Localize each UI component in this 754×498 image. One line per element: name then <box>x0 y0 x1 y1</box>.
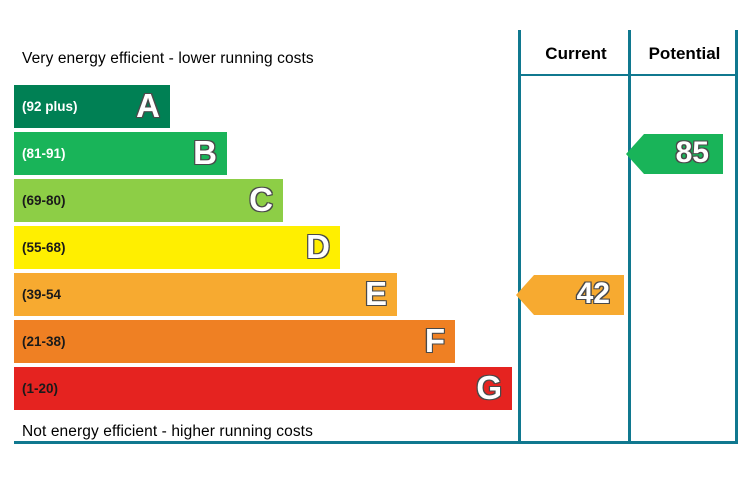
band-letter-a: A <box>136 89 166 122</box>
band-letter-d: D <box>306 230 336 263</box>
table-left-border <box>518 30 521 442</box>
band-row-b: (81-91) B <box>14 132 227 175</box>
band-range-c: (69-80) <box>22 194 66 208</box>
band-row-a: (92 plus) A <box>14 85 170 128</box>
band-range-d: (55-68) <box>22 241 66 255</box>
table-header-rule <box>518 74 738 76</box>
table-mid-divider <box>628 30 631 442</box>
potential-rating-value: 85 <box>676 138 709 168</box>
column-header-current: Current <box>524 40 628 68</box>
current-rating-arrow: 42 <box>516 275 624 315</box>
band-row-g: (1-20) G <box>14 367 512 410</box>
band-letter-g: G <box>476 371 508 404</box>
band-range-g: (1-20) <box>22 382 58 396</box>
band-letter-e: E <box>365 277 393 310</box>
band-range-f: (21-38) <box>22 335 66 349</box>
band-row-f: (21-38) F <box>14 320 455 363</box>
band-row-e: (39-54 E <box>14 273 397 316</box>
band-letter-b: B <box>193 136 223 169</box>
column-header-potential: Potential <box>634 40 735 68</box>
table-bottom-rule <box>14 441 738 444</box>
band-range-e: (39-54 <box>22 288 61 302</box>
current-rating-value: 42 <box>577 279 610 309</box>
band-letter-c: C <box>249 183 279 216</box>
epc-energy-efficiency-chart: Very energy efficient - lower running co… <box>0 0 754 498</box>
potential-rating-arrow: 85 <box>626 134 723 174</box>
band-range-a: (92 plus) <box>22 100 78 114</box>
bottom-caption: Not energy efficient - higher running co… <box>22 423 313 441</box>
band-row-d: (55-68) D <box>14 226 340 269</box>
band-range-b: (81-91) <box>22 147 66 161</box>
table-right-border <box>735 30 738 442</box>
band-letter-f: F <box>425 324 451 357</box>
band-row-c: (69-80) C <box>14 179 283 222</box>
